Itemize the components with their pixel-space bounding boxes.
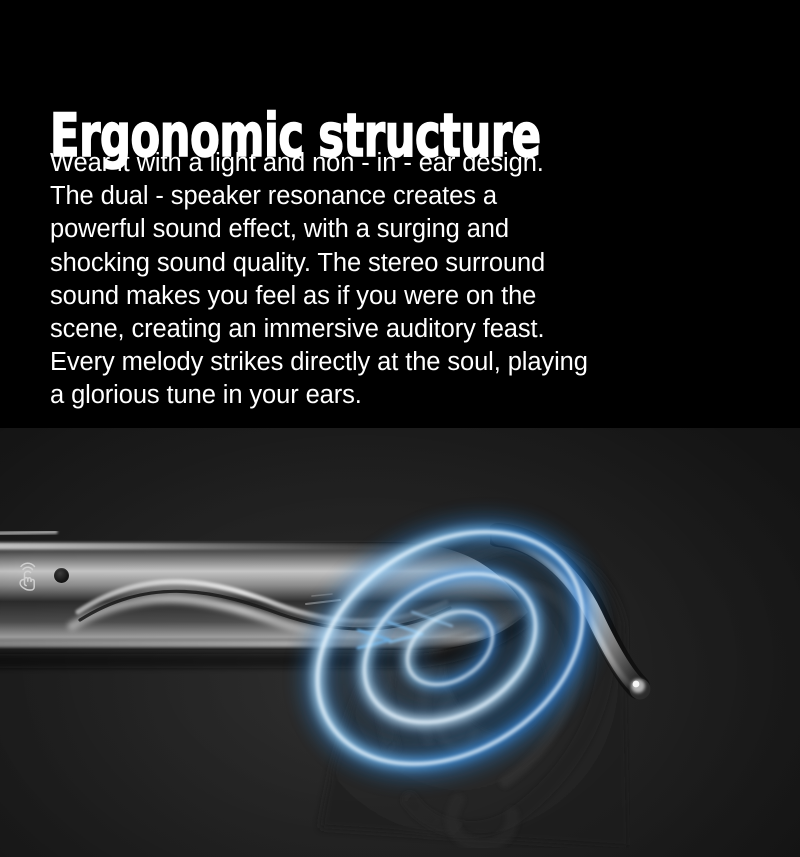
body-line: The dual - speaker resonance creates a	[50, 180, 760, 213]
product-photo	[0, 428, 800, 857]
glasses-temple-arm	[0, 508, 680, 728]
text-panel: Ergonomic structure Wear it with a light…	[0, 0, 800, 428]
microphone-port	[54, 568, 69, 583]
vignette-overlay	[0, 428, 800, 857]
body-line: powerful sound effect, with a surging an…	[50, 213, 760, 246]
body-copy: Wear it with a light and non - in - ear …	[50, 147, 760, 413]
body-line: shocking sound quality. The stereo surro…	[50, 247, 760, 280]
body-line: Wear it with a light and non - in - ear …	[50, 147, 760, 180]
sound-wave-rings	[270, 468, 630, 828]
ear-silhouette	[300, 448, 630, 848]
product-feature-image: Ergonomic structure Wear it with a light…	[0, 0, 800, 857]
touch-gesture-icon	[12, 560, 42, 592]
body-line: a glorious tune in your ears.	[50, 379, 760, 412]
body-line: sound makes you feel as if you were on t…	[50, 280, 760, 313]
body-line: scene, creating an immersive auditory fe…	[50, 313, 760, 346]
body-line: Every melody strikes directly at the sou…	[50, 346, 760, 379]
ear-hook-tip	[490, 523, 690, 723]
